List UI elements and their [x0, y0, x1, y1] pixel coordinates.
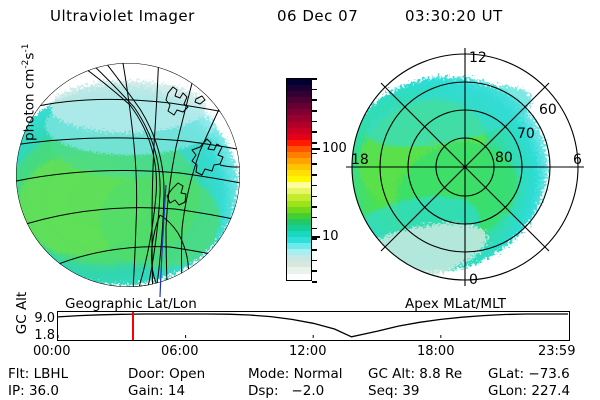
status-flt: Flt: LBHL [8, 366, 68, 382]
colorbar-tick [312, 196, 317, 198]
apex-polar-grid [346, 48, 584, 286]
apex-caption: Apex MLat/MLT [405, 296, 506, 312]
altitude-axis-label: GC Alt [14, 283, 30, 343]
colorbar-exponent-2: -1 [21, 44, 31, 53]
mlt-label-right: 6 [573, 152, 582, 168]
mlt-label-left: 18 [351, 152, 369, 168]
colorbar-tick [312, 99, 317, 101]
mlt-label-bottom: 0 [469, 272, 478, 288]
mlt-label-top: 12 [469, 50, 487, 66]
uvi-display: Ultraviolet Imager 06 Dec 07 03:30:20 UT [0, 0, 600, 400]
colorbar-tick [312, 206, 317, 208]
altitude-timeline[interactable] [57, 311, 570, 341]
geographic-image-panel[interactable] [10, 45, 260, 295]
colorbar[interactable] [286, 78, 312, 281]
geographic-emission-field [2, 45, 260, 295]
colorbar-tick [312, 121, 317, 123]
colorbar-axis-label-mid: s [21, 53, 37, 60]
colorbar-tick [312, 281, 317, 283]
status-glat: GLat: −73.6 [488, 366, 570, 382]
colorbar-tick [312, 110, 317, 112]
colorbar-tick [312, 89, 317, 91]
colorbar-axis-label-text: photon cm [21, 69, 37, 141]
mlat-label-70: 70 [517, 126, 535, 142]
colorbar-tick [312, 228, 317, 230]
xtick-1800: 18:00 [417, 344, 454, 359]
apex-mlt-panel[interactable]: 12 18 6 0 60 70 80 [345, 42, 590, 292]
colorbar-band [287, 274, 311, 280]
colorbar-tick [312, 217, 317, 219]
colorbar-tick [312, 153, 317, 155]
colorbar-tick-label-100: 100 [322, 141, 347, 156]
geographic-plot [10, 45, 260, 295]
status-door: Door: Open [128, 366, 205, 382]
colorbar-tick-label-10: 10 [322, 229, 339, 244]
colorbar-exponent-1: -2 [21, 60, 31, 69]
colorbar-major-tick [312, 148, 320, 150]
colorbar-gradient [286, 78, 312, 281]
observation-time: 03:30:20 UT [405, 7, 503, 25]
altitude-curve [58, 312, 568, 339]
colorbar-tick [312, 260, 317, 262]
colorbar-tick [312, 142, 317, 144]
status-ip: IP: 36.0 [8, 383, 59, 399]
status-dsp: Dsp: −2.0 [248, 383, 324, 399]
xtick-2359: 23:59 [538, 344, 575, 359]
altitude-ytick-low: 1.8 [30, 328, 55, 343]
status-gcalt: GC Alt: 8.8 Re [368, 366, 462, 382]
apex-polar-plot: 12 18 6 0 60 70 80 [345, 42, 590, 292]
status-gain: Gain: 14 [128, 383, 185, 399]
colorbar-tick [312, 163, 317, 165]
xtick-0000: 00:00 [33, 344, 70, 359]
observation-date: 06 Dec 07 [277, 7, 358, 25]
status-glon: GLon: 227.4 [488, 383, 570, 399]
colorbar-tick [312, 270, 317, 272]
xtick-0600: 06:00 [161, 344, 198, 359]
page-title: Ultraviolet Imager [50, 7, 195, 25]
colorbar-major-tick [312, 236, 320, 238]
mlat-label-80: 80 [495, 150, 513, 166]
geographic-caption: Geographic Lat/Lon [65, 296, 197, 312]
status-seq: Seq: 39 [368, 383, 419, 399]
colorbar-ticks [312, 78, 320, 281]
colorbar-tick [312, 78, 317, 80]
current-time-marker [132, 312, 134, 340]
apex-emission-field [307, 42, 590, 301]
colorbar-tick [312, 249, 317, 251]
colorbar-tick [312, 174, 317, 176]
xtick-1200: 12:00 [289, 344, 326, 359]
colorbar-tick [312, 131, 317, 133]
status-mode: Mode: Normal [248, 366, 342, 382]
colorbar-tick [312, 185, 317, 187]
colorbar-axis-label: photon cm-2s-1 [21, 0, 38, 187]
mlat-label-60: 60 [539, 102, 557, 118]
colorbar-tick [312, 238, 317, 240]
altitude-ytick-high: 9.0 [30, 311, 55, 326]
